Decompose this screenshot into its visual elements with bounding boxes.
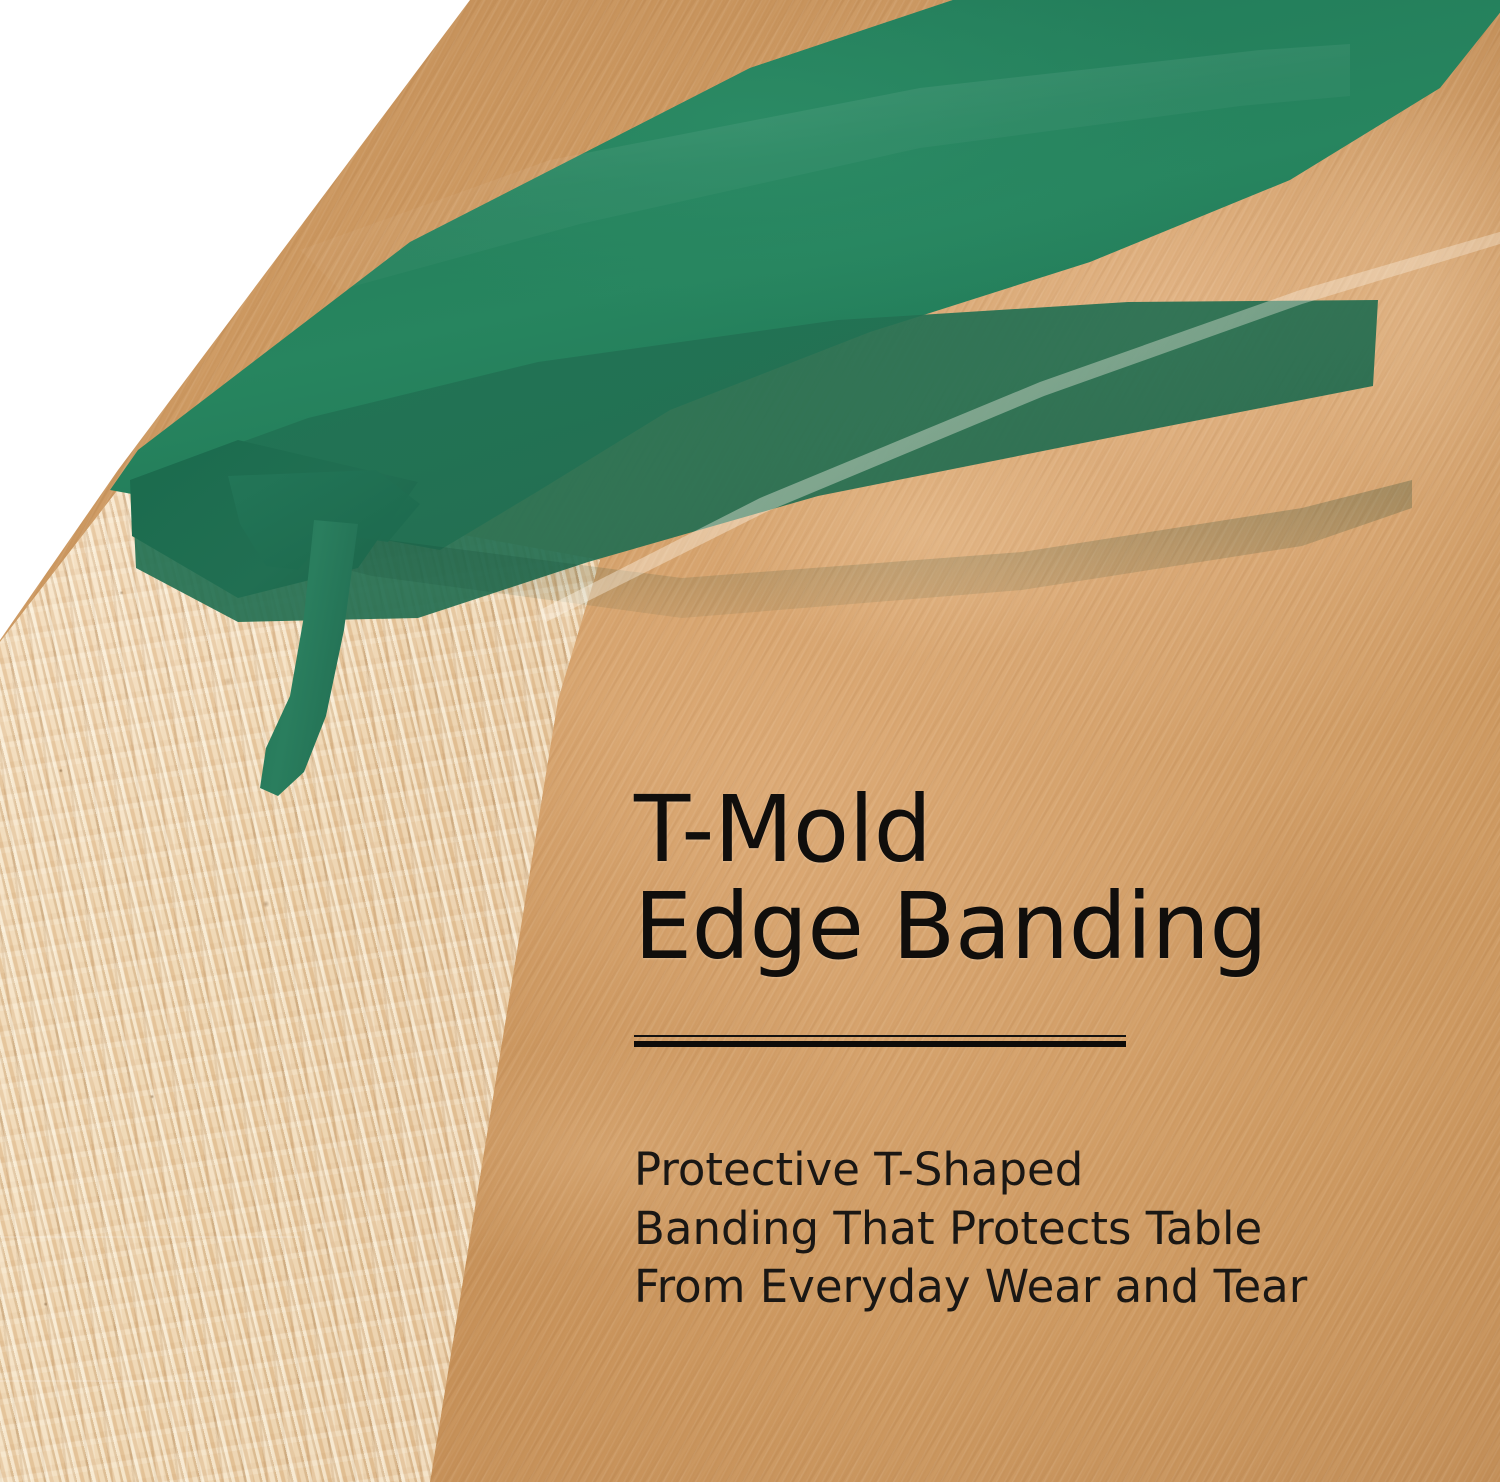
photo-seam-line xyxy=(186,1236,188,1482)
product-marketing-image: T-Mold Edge Banding Protective T-Shaped … xyxy=(0,0,1500,1482)
headline-line-1: T-Mold xyxy=(634,782,1424,879)
description-line-2: Banding That Protects Table xyxy=(634,1200,1424,1259)
divider-rule-thick xyxy=(634,1041,1126,1047)
description-line-1: Protective T-Shaped xyxy=(634,1141,1424,1200)
page-title: T-Mold Edge Banding xyxy=(634,782,1424,975)
overlay-copy-block: T-Mold Edge Banding Protective T-Shaped … xyxy=(634,782,1424,1317)
photo-seam-line xyxy=(0,1380,240,1382)
description-line-3: From Everyday Wear and Tear xyxy=(634,1258,1424,1317)
double-rule-divider xyxy=(634,1035,1126,1047)
headline-line-2: Edge Banding xyxy=(634,879,1424,976)
photo-seam-line xyxy=(0,1236,300,1238)
overlay-description: Protective T-Shaped Banding That Protect… xyxy=(634,1141,1424,1317)
